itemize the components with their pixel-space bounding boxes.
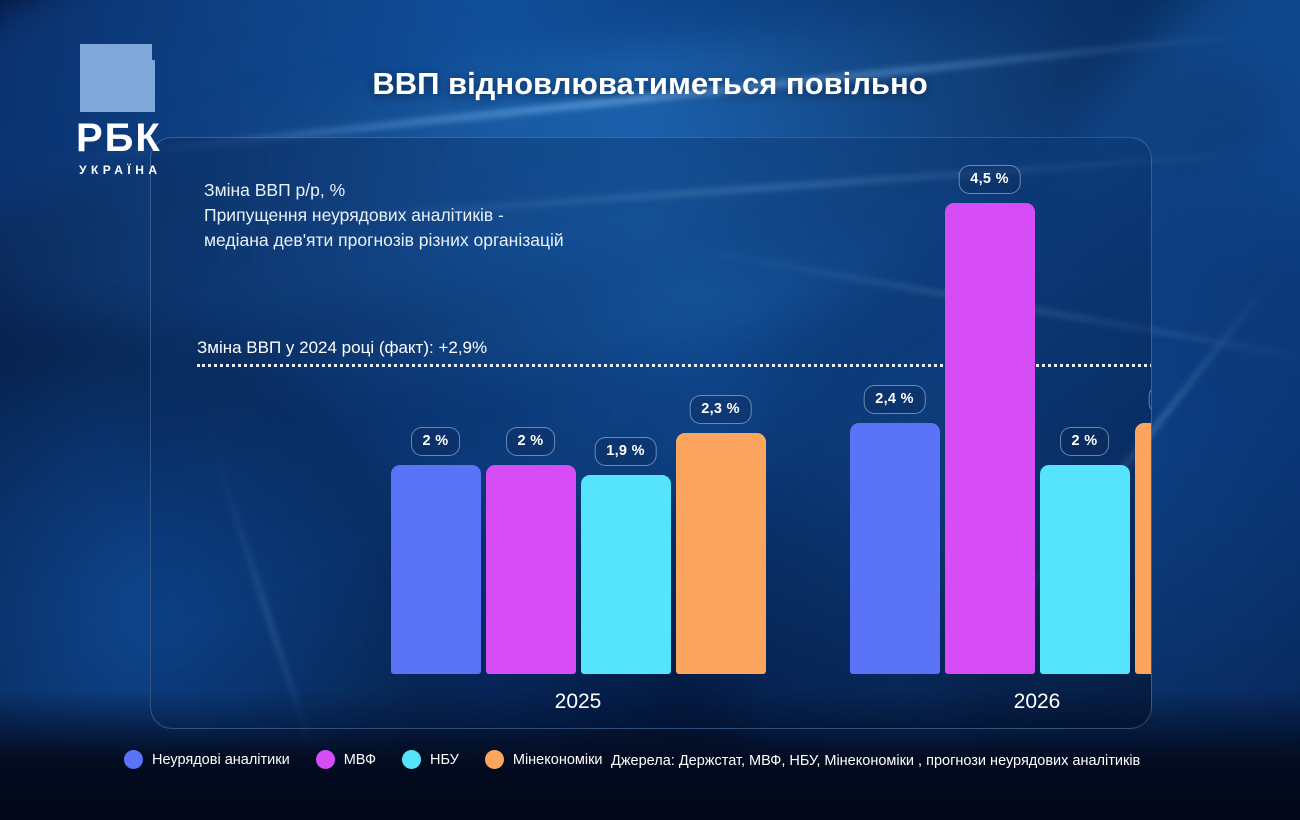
logo-subtitle: УКРАЇНА (79, 163, 236, 177)
bar-value-label: 4,5 % (958, 165, 1021, 194)
chart-card-inner: Зміна ВВП р/р, % Припущення неурядових а… (151, 138, 1151, 728)
legend-item-3[interactable]: Мінекономіки (485, 750, 603, 769)
rbc-ukraine-logo: РБК УКРАЇНА (76, 44, 236, 177)
chart-legend: Неурядові аналітикиМВФНБУМінекономіки (124, 750, 603, 769)
bar-value-label: 2,4 % (863, 385, 926, 414)
chart-card: Зміна ВВП р/р, % Припущення неурядових а… (150, 137, 1152, 729)
bar-2025-2[interactable] (581, 475, 671, 674)
logo-name: РБК (76, 118, 236, 158)
bar-value-label: 2 % (506, 427, 556, 456)
legend-item-1[interactable]: МВФ (316, 750, 376, 769)
legend-label: МВФ (344, 752, 376, 768)
x-axis-label-2026: 2026 (1014, 690, 1061, 714)
bar-2026-3[interactable] (1135, 423, 1153, 674)
bar-value-label: 2,3 % (689, 395, 752, 424)
bar-value-label: 1,9 % (594, 437, 657, 466)
legend-label: НБУ (430, 752, 459, 768)
legend-color-swatch-icon (124, 750, 143, 769)
legend-item-0[interactable]: Неурядові аналітики (124, 750, 290, 769)
chart-footer: Неурядові аналітикиМВФНБУМінекономіки Дж… (0, 728, 1300, 820)
legend-item-2[interactable]: НБУ (402, 750, 459, 769)
bar-2026-1[interactable] (945, 203, 1035, 674)
bar-2025-3[interactable] (676, 433, 766, 674)
bar-plot-area: 2 %2 %1,9 %2,3 %20252,4 %4,5 %2 %2,4 %20… (151, 138, 1151, 728)
sources-text: Джерела: Держстат, МВФ, НБУ, Мінекономік… (611, 753, 1140, 769)
page-title: ВВП відновлюватиметься повільно (0, 66, 1300, 102)
bar-value-label: 2,4 % (1148, 385, 1152, 414)
x-axis-label-2025: 2025 (555, 690, 602, 714)
legend-label: Неурядові аналітики (152, 752, 290, 768)
legend-label: Мінекономіки (513, 752, 603, 768)
bar-2025-0[interactable] (391, 465, 481, 674)
bar-2025-1[interactable] (486, 465, 576, 674)
bar-value-label: 2 % (1060, 427, 1110, 456)
legend-color-swatch-icon (316, 750, 335, 769)
legend-color-swatch-icon (485, 750, 504, 769)
bar-2026-2[interactable] (1040, 465, 1130, 674)
bar-value-label: 2 % (411, 427, 461, 456)
bar-2026-0[interactable] (850, 423, 940, 674)
legend-color-swatch-icon (402, 750, 421, 769)
